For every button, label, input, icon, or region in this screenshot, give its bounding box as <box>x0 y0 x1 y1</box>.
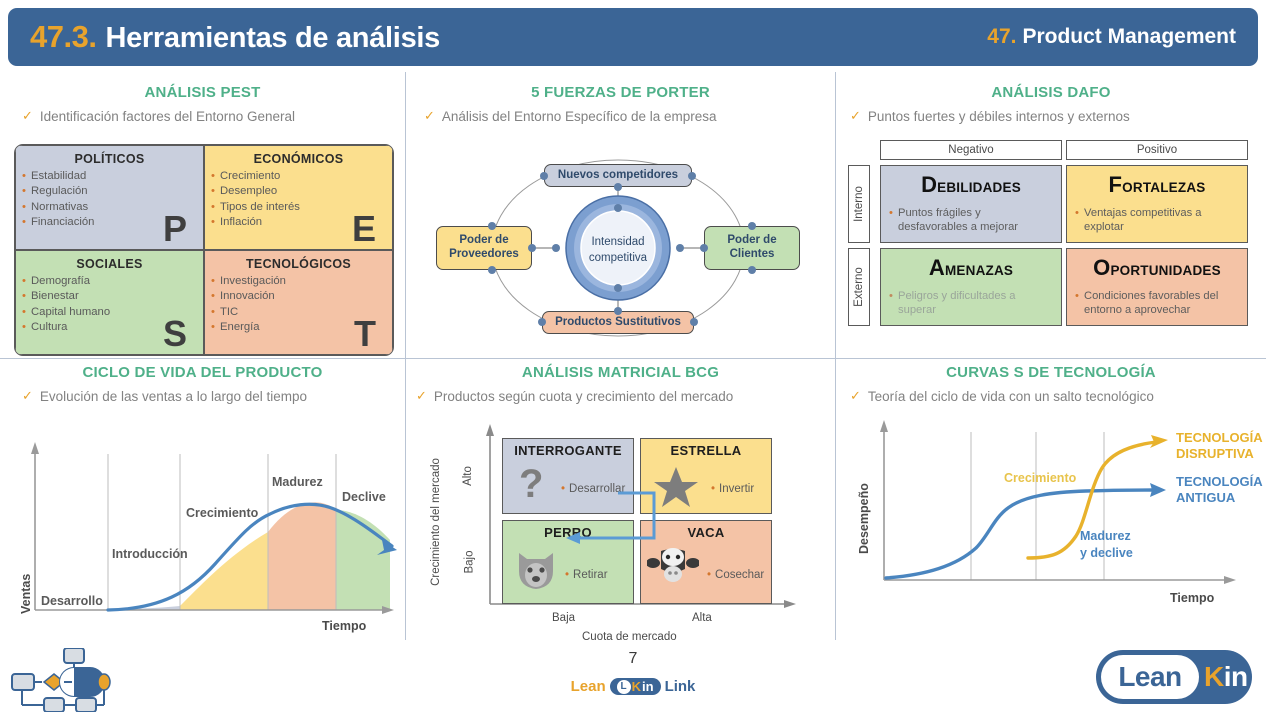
leankin-lean-text: Lean <box>1101 655 1199 699</box>
bcg-quadrant-name: PERRO <box>503 525 633 540</box>
svg-text:Madurez: Madurez <box>1080 529 1131 543</box>
porter-force-label-line2: Clientes <box>730 248 775 262</box>
svg-text:Desempeño: Desempeño <box>857 483 871 554</box>
dafo-row-header-interno: Interno <box>848 165 870 243</box>
porter-center-label: Intensidad competitiva <box>570 235 666 266</box>
question-mark-icon: ? <box>515 465 549 509</box>
lifecycle-subtitle-row: ✓ Evolución de las ventas a lo largo del… <box>0 389 405 404</box>
pest-subtitle-row: ✓ Identificación factores del Entorno Ge… <box>0 109 405 124</box>
dafo-cell-rest: PORTUNIDADES <box>1110 263 1220 278</box>
bcg-quadrant-action: Desarrollar <box>561 483 625 495</box>
svg-text:Introducción: Introducción <box>112 547 188 561</box>
panel-bcg: ANÁLISIS MATRICIAL BCG ✓ Productos según… <box>406 364 835 640</box>
dafo-cell-bullet: Puntos frágiles y desfavorables a mejora… <box>889 206 1053 235</box>
header-chapter-title: Product Management <box>1022 25 1236 49</box>
dafo-row-header-label: Externo <box>853 267 865 307</box>
bcg-subtitle: Productos según cuota y crecimiento del … <box>434 389 733 404</box>
porter-node-dot <box>690 318 698 326</box>
dafo-cell-title: DEBILIDADES <box>889 172 1053 198</box>
pest-item: Desempleo <box>214 185 383 197</box>
pest-heading: ECONÓMICOS <box>214 152 383 166</box>
porter-node-dot <box>614 284 622 292</box>
check-icon: ✓ <box>22 389 33 403</box>
bcg-quadrant-estrella[interactable]: ESTRELLA Invertir <box>640 438 772 514</box>
dafo-row-header-label: Interno <box>853 186 865 222</box>
bcg-quadrant-name: VACA <box>641 525 771 540</box>
porter-force-poder-proveedores[interactable]: Poder de Proveedores <box>436 226 532 270</box>
svg-text:ANTIGUA: ANTIGUA <box>1176 490 1236 505</box>
bcg-y-tick-alto: Alto <box>462 466 474 486</box>
header-section-number: 47.3. <box>30 19 96 55</box>
bcg-x-tick-alta: Alta <box>692 612 712 624</box>
leanlink-pill-l: L <box>617 680 631 694</box>
bcg-quadrant-interrogante[interactable]: INTERROGANTE ? Desarrollar <box>502 438 634 514</box>
bcg-subtitle-row: ✓ Productos según cuota y crecimiento de… <box>406 389 835 404</box>
dafo-title: ANÁLISIS DAFO <box>836 84 1266 101</box>
pest-letter-p: P <box>163 211 187 247</box>
panel-scurves: CURVAS S DE TECNOLOGÍA ✓ Teoría del cicl… <box>836 364 1266 640</box>
panel-lifecycle: CICLO DE VIDA DEL PRODUCTO ✓ Evolución d… <box>0 364 405 640</box>
dafo-cell-amenazas[interactable]: AMENAZAS Peligros y dificultades a super… <box>880 248 1062 326</box>
svg-text:Desarrollo: Desarrollo <box>41 594 103 608</box>
scurves-subtitle: Teoría del ciclo de vida con un salto te… <box>868 389 1154 404</box>
scurves-subtitle-row: ✓ Teoría del ciclo de vida con un salto … <box>836 389 1266 404</box>
bcg-quadrant-vaca[interactable]: VACA Cosechar <box>640 520 772 604</box>
dafo-cell-rest: EBILIDADES <box>937 180 1021 195</box>
dafo-cell-rest: MENAZAS <box>945 263 1013 278</box>
svg-text:Declive: Declive <box>342 490 386 504</box>
dafo-subtitle-row: ✓ Puntos fuertes y débiles internos y ex… <box>836 109 1266 124</box>
pest-heading: TECNOLÓGICOS <box>214 257 383 271</box>
pest-heading: POLÍTICOS <box>25 152 194 166</box>
leankin-k: K <box>1204 661 1224 692</box>
svg-text:Tiempo: Tiempo <box>1170 591 1215 605</box>
bcg-quadrant-action: Cosechar <box>707 569 764 581</box>
porter-subtitle-row: ✓ Análisis del Entorno Específico de la … <box>406 109 835 124</box>
porter-center-line2: competitiva <box>570 251 666 267</box>
leanlink-pill-k: K <box>632 679 641 694</box>
pest-matrix: POLÍTICOS Estabilidad Regulación Normati… <box>14 144 394 356</box>
svg-text:DISRUPTIVA: DISRUPTIVA <box>1176 446 1254 461</box>
porter-node-dot <box>540 172 548 180</box>
bcg-matrix: INTERROGANTE ? Desarrollar ESTRELLA Inve… <box>418 416 828 641</box>
porter-node-dot <box>748 222 756 230</box>
dafo-col-header-negativo: Negativo <box>880 140 1062 160</box>
bcg-quadrant-action: Invertir <box>711 483 754 495</box>
svg-text:Madurez: Madurez <box>272 475 323 489</box>
check-icon: ✓ <box>416 389 427 403</box>
pest-item: Innovación <box>214 290 383 302</box>
cow-icon <box>647 547 699 591</box>
porter-node-dot <box>700 244 708 252</box>
porter-node-dot <box>528 244 536 252</box>
header-chapter-number: 47. <box>987 25 1016 49</box>
dafo-cell-debilidades[interactable]: DEBILIDADES Puntos frágiles y desfavorab… <box>880 165 1062 243</box>
bcg-quadrant-perro[interactable]: PERRO Retirar <box>502 520 634 604</box>
pest-quadrant-sociales[interactable]: SOCIALES Demografía Bienestar Capital hu… <box>15 250 204 355</box>
pest-subtitle: Identificación factores del Entorno Gene… <box>40 109 295 124</box>
pest-quadrant-politicos[interactable]: POLÍTICOS Estabilidad Regulación Normati… <box>15 145 204 250</box>
porter-title: 5 FUERZAS DE PORTER <box>406 84 835 101</box>
panel-porter: 5 FUERZAS DE PORTER ✓ Análisis del Entor… <box>406 84 835 358</box>
star-icon <box>653 465 699 509</box>
panel-pest: ANÁLISIS PEST ✓ Identificación factores … <box>0 84 405 358</box>
dafo-cell-oportunidades[interactable]: OPORTUNIDADES Condiciones favorables del… <box>1066 248 1248 326</box>
pest-letter-e: E <box>352 211 376 247</box>
porter-node-dot <box>488 266 496 274</box>
porter-force-label: Nuevos competidores <box>558 169 678 183</box>
pest-quadrant-economicos[interactable]: ECONÓMICOS Crecimiento Desempleo Tipos d… <box>204 145 393 250</box>
svg-text:TECNOLOGÍA: TECNOLOGÍA <box>1176 430 1263 445</box>
porter-force-label-line2: Proveedores <box>449 248 519 262</box>
svg-text:Crecimiento: Crecimiento <box>1004 471 1077 485</box>
bcg-y-axis-label: Crecimiento del mercado <box>430 458 442 586</box>
dafo-cell-title: FORTALEZAS <box>1075 172 1239 198</box>
porter-subtitle: Análisis del Entorno Específico de la em… <box>442 109 717 124</box>
page-title: Herramientas de análisis <box>105 22 440 55</box>
svg-text:Tiempo: Tiempo <box>322 619 367 633</box>
porter-node-dot <box>676 244 684 252</box>
lifecycle-subtitle: Evolución de las ventas a lo largo del t… <box>40 389 307 404</box>
leanlink-logo[interactable]: Lean L K in Link <box>0 678 1266 695</box>
header-left: 47.3. Herramientas de análisis <box>30 19 440 55</box>
bcg-quadrant-action: Retirar <box>565 569 608 581</box>
dafo-cell-bullet: Peligros y dificultades a superar <box>889 289 1053 318</box>
dafo-matrix: Negativo Positivo Interno Externo DEBILI… <box>848 140 1252 356</box>
dafo-cell-initial: F <box>1109 172 1123 197</box>
leanlink-link-text: Link <box>665 678 696 695</box>
porter-force-label-line1: Poder de <box>727 234 776 248</box>
leanlink-pill-in: in <box>642 679 654 694</box>
dafo-cell-initial: O <box>1093 255 1110 280</box>
porter-node-dot <box>538 318 546 326</box>
porter-center-line1: Intensidad <box>570 235 666 251</box>
leankin-kin-text: Kin <box>1204 661 1248 693</box>
porter-node-dot <box>614 307 622 315</box>
porter-force-label-line1: Poder de <box>459 234 508 248</box>
bcg-title: ANÁLISIS MATRICIAL BCG <box>406 364 835 381</box>
dafo-cell-fortalezas[interactable]: FORTALEZAS Ventajas competitivas a explo… <box>1066 165 1248 243</box>
svg-text:Crecimiento: Crecimiento <box>186 506 259 520</box>
porter-node-dot <box>614 183 622 191</box>
porter-force-poder-clientes[interactable]: Poder de Clientes <box>704 226 800 270</box>
bcg-quadrant-name: ESTRELLA <box>641 443 771 458</box>
dafo-cell-title: AMENAZAS <box>889 255 1053 281</box>
porter-node-dot <box>488 222 496 230</box>
leanlink-pill: L K in <box>610 678 661 695</box>
dafo-row-header-externo: Externo <box>848 248 870 326</box>
dafo-cell-bullet: Condiciones favorables del entorno a apr… <box>1075 289 1239 318</box>
panel-dafo: ANÁLISIS DAFO ✓ Puntos fuertes y débiles… <box>836 84 1266 358</box>
porter-node-dot <box>748 266 756 274</box>
bcg-x-tick-baja: Baja <box>552 612 575 624</box>
pest-item: Demografía <box>25 275 194 287</box>
check-icon: ✓ <box>850 389 861 403</box>
check-icon: ✓ <box>424 109 435 123</box>
pest-item: Crecimiento <box>214 170 383 182</box>
scurves-title: CURVAS S DE TECNOLOGÍA <box>836 364 1266 381</box>
pest-quadrant-tecnologicos[interactable]: TECNOLÓGICOS Investigación Innovación TI… <box>204 250 393 355</box>
pest-heading: SOCIALES <box>25 257 194 271</box>
check-icon: ✓ <box>22 109 33 123</box>
dafo-col-header-label: Negativo <box>948 144 993 156</box>
svg-text:y declive: y declive <box>1080 546 1133 560</box>
porter-diagram: Intensidad competitiva Nuevos competidor… <box>412 136 824 361</box>
page-number: 7 <box>0 650 1266 668</box>
dafo-cell-initial: D <box>921 172 937 197</box>
dafo-cell-initial: A <box>929 255 945 280</box>
check-icon: ✓ <box>850 109 861 123</box>
lifecycle-chart: Ventas Desarrollo Introducción Crecimien… <box>0 414 405 634</box>
lifecycle-title: CICLO DE VIDA DEL PRODUCTO <box>0 364 405 381</box>
page-header: 47.3. Herramientas de análisis 47. Produ… <box>8 8 1258 66</box>
dafo-subtitle: Puntos fuertes y débiles internos y exte… <box>868 109 1130 124</box>
bcg-y-tick-bajo: Bajo <box>464 550 476 573</box>
dafo-col-header-positivo: Positivo <box>1066 140 1248 160</box>
header-right: 47. Product Management <box>987 25 1236 49</box>
leanlink-lean-text: Lean <box>571 678 606 695</box>
pest-letter-t: T <box>354 316 376 352</box>
pest-item: Regulación <box>25 185 194 197</box>
dafo-cell-rest: ORTALEZAS <box>1122 180 1205 195</box>
svg-text:TECNOLOGÍA: TECNOLOGÍA <box>1176 474 1263 489</box>
pest-item: Bienestar <box>25 290 194 302</box>
leankin-in: in <box>1224 661 1248 692</box>
bcg-x-axis-label: Cuota de mercado <box>582 631 677 643</box>
svg-text:Ventas: Ventas <box>19 574 33 614</box>
scurves-chart: Desempeño Crecimiento Madurez y declive … <box>836 412 1266 632</box>
svg-text:?: ? <box>519 465 543 506</box>
dog-icon <box>513 547 559 591</box>
porter-node-dot <box>688 172 696 180</box>
porter-node-dot <box>614 204 622 212</box>
pest-item: Investigación <box>214 275 383 287</box>
dafo-col-header-label: Positivo <box>1137 144 1177 156</box>
bcg-quadrant-name: INTERROGANTE <box>503 443 633 458</box>
pest-letter-s: S <box>163 316 187 352</box>
pest-item: Estabilidad <box>25 170 194 182</box>
leankin-logo[interactable]: Lean Kin <box>1096 650 1252 704</box>
porter-force-label: Productos Sustitutivos <box>555 316 681 330</box>
dafo-cell-bullet: Ventajas competitivas a explotar <box>1075 206 1239 235</box>
porter-node-dot <box>552 244 560 252</box>
pest-title: ANÁLISIS PEST <box>0 84 405 101</box>
dafo-cell-title: OPORTUNIDADES <box>1075 255 1239 281</box>
